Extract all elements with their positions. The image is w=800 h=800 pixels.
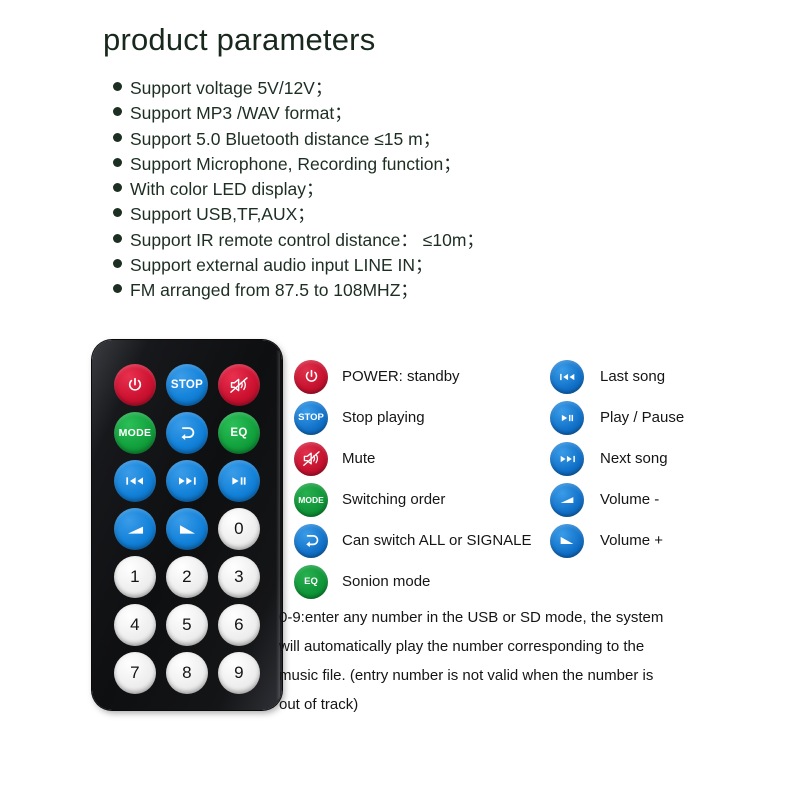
remote-key-6[interactable]: 6 xyxy=(218,604,260,646)
spec-item: FM arranged from 87.5 to 108MHZ； xyxy=(113,278,583,303)
stop-label: STOP xyxy=(171,379,203,391)
note-line: 0-9:enter any number in the USB or SD mo… xyxy=(279,603,709,632)
legend-row: EQSonion mode xyxy=(294,561,532,602)
legend-label: Volume + xyxy=(600,532,663,549)
mode-label: MODE xyxy=(298,495,324,505)
legend-row: MODESwitching order xyxy=(294,479,532,520)
eq-label: EQ xyxy=(304,576,318,587)
bullet-icon xyxy=(113,158,122,167)
remote-key-3[interactable]: 3 xyxy=(218,556,260,598)
legend-label: Switching order xyxy=(342,491,445,508)
previous-track-icon xyxy=(559,372,576,382)
stop-label: STOP xyxy=(298,412,324,423)
remote-key-volume-down[interactable] xyxy=(114,508,156,550)
spec-item-text: Support USB,TF,AUX； xyxy=(130,202,315,227)
bullet-icon xyxy=(113,107,122,116)
legend-mode-text: MODE xyxy=(294,483,328,517)
legend-row: Volume - xyxy=(550,479,684,520)
spec-item-text: Support MP3 /WAV format； xyxy=(130,101,352,126)
remote-key-9[interactable]: 9 xyxy=(218,652,260,694)
legend-label: Volume - xyxy=(600,491,659,508)
spec-item: Support USB,TF,AUX； xyxy=(113,202,583,227)
note-line: music file. (entry number is not valid w… xyxy=(279,661,709,690)
legend-mute-icon xyxy=(294,442,328,476)
volume-up-icon xyxy=(559,535,575,546)
legend-power-icon xyxy=(294,360,328,394)
remote-key-previous[interactable] xyxy=(114,460,156,502)
spec-item: Support IR remote control distance： ≤10m… xyxy=(113,228,583,253)
remote-key-8[interactable]: 8 xyxy=(166,652,208,694)
legend-volume-up-icon xyxy=(550,524,584,558)
mode-label: MODE xyxy=(119,427,152,439)
spec-item: Support voltage 5V/12V； xyxy=(113,76,583,101)
remote-key-2[interactable]: 2 xyxy=(166,556,208,598)
legend-label: Last song xyxy=(600,368,665,385)
power-icon xyxy=(127,377,143,393)
legend-row: Play / Pause xyxy=(550,397,684,438)
spec-item: Support external audio input LINE IN； xyxy=(113,253,583,278)
legend-volume-down-icon xyxy=(550,483,584,517)
next-track-icon xyxy=(177,475,197,487)
legend-row: STOPStop playing xyxy=(294,397,532,438)
bullet-icon xyxy=(113,284,122,293)
play-pause-icon xyxy=(559,413,576,423)
legend-play-pause-icon xyxy=(550,401,584,435)
remote-key-play-pause[interactable] xyxy=(218,460,260,502)
spec-item: Support Microphone, Recording function； xyxy=(113,152,583,177)
spec-item-text: Support external audio input LINE IN； xyxy=(130,253,433,278)
spec-item-text: Support IR remote control distance： ≤10m… xyxy=(130,228,484,253)
spec-item: Support MP3 /WAV format； xyxy=(113,101,583,126)
spec-item-text: Support voltage 5V/12V； xyxy=(130,76,332,101)
legend-stop-text: STOP xyxy=(294,401,328,435)
remote-key-mode[interactable]: MODE xyxy=(114,412,156,454)
bullet-icon xyxy=(113,183,122,192)
eq-label: EQ xyxy=(230,427,247,439)
remote-key-1[interactable]: 1 xyxy=(114,556,156,598)
spec-item: With color LED display； xyxy=(113,177,583,202)
note-line: out of track) xyxy=(279,690,709,719)
bullet-icon xyxy=(113,133,122,142)
bullet-icon xyxy=(113,208,122,217)
legend-label: Mute xyxy=(342,450,375,467)
remote-key-mute[interactable] xyxy=(218,364,260,406)
bullet-icon xyxy=(113,234,122,243)
return-arrow-icon xyxy=(302,532,321,549)
legend-label: Can switch ALL or SIGNALE xyxy=(342,532,532,549)
mute-icon xyxy=(302,450,321,467)
legend-row: Next song xyxy=(550,438,684,479)
legend-row: Can switch ALL or SIGNALE xyxy=(294,520,532,561)
legend-row: Mute xyxy=(294,438,532,479)
spec-item-text: Support Microphone, Recording function； xyxy=(130,152,461,177)
number-keys-note: 0-9:enter any number in the USB or SD mo… xyxy=(279,603,709,719)
legend-label: Play / Pause xyxy=(600,409,684,426)
legend-label: Next song xyxy=(600,450,668,467)
volume-down-icon xyxy=(559,494,575,505)
bullet-icon xyxy=(113,259,122,268)
note-line: will automatically play the number corre… xyxy=(279,632,709,661)
next-track-icon xyxy=(559,454,576,464)
remote-key-eq[interactable]: EQ xyxy=(218,412,260,454)
remote-keypad: STOPMODEEQ0123456789 xyxy=(109,361,265,697)
legend-previous-track-icon xyxy=(550,360,584,394)
legend-label: Sonion mode xyxy=(342,573,430,590)
remote-key-5[interactable]: 5 xyxy=(166,604,208,646)
legend-return-arrow-icon xyxy=(294,524,328,558)
remote-key-switch[interactable] xyxy=(166,412,208,454)
page-title: product parameters xyxy=(103,22,375,58)
remote-key-next[interactable] xyxy=(166,460,208,502)
remote-key-stop[interactable]: STOP xyxy=(166,364,208,406)
spec-item-text: With color LED display； xyxy=(130,177,324,202)
spec-list: Support voltage 5V/12V；Support MP3 /WAV … xyxy=(113,76,583,304)
bullet-icon xyxy=(113,82,122,91)
legend-eq-text: EQ xyxy=(294,565,328,599)
play-pause-icon xyxy=(229,475,249,487)
legend-label: Stop playing xyxy=(342,409,425,426)
spec-item-text: FM arranged from 87.5 to 108MHZ； xyxy=(130,278,418,303)
legend-row: Last song xyxy=(550,356,684,397)
legend-label: POWER: standby xyxy=(342,368,460,385)
volume-up-icon xyxy=(178,523,197,536)
previous-track-icon xyxy=(125,475,145,487)
legend-next-track-icon xyxy=(550,442,584,476)
legend-column-left: POWER: standbySTOPStop playingMuteMODESw… xyxy=(294,356,532,602)
legend-row: POWER: standby xyxy=(294,356,532,397)
remote-key-4[interactable]: 4 xyxy=(114,604,156,646)
remote-key-0[interactable]: 0 xyxy=(218,508,260,550)
remote-control-image: STOPMODEEQ0123456789 xyxy=(92,340,282,710)
volume-down-icon xyxy=(126,523,145,536)
mute-icon xyxy=(229,376,249,394)
legend-column-right: Last songPlay / PauseNext songVolume -Vo… xyxy=(550,356,684,561)
remote-key-power[interactable] xyxy=(114,364,156,406)
spec-item: Support 5.0 Bluetooth distance ≤15 m； xyxy=(113,127,583,152)
return-arrow-icon xyxy=(177,424,197,442)
spec-item-text: Support 5.0 Bluetooth distance ≤15 m； xyxy=(130,127,440,152)
remote-key-volume-up[interactable] xyxy=(166,508,208,550)
legend-row: Volume + xyxy=(550,520,684,561)
remote-key-7[interactable]: 7 xyxy=(114,652,156,694)
power-icon xyxy=(304,369,319,384)
